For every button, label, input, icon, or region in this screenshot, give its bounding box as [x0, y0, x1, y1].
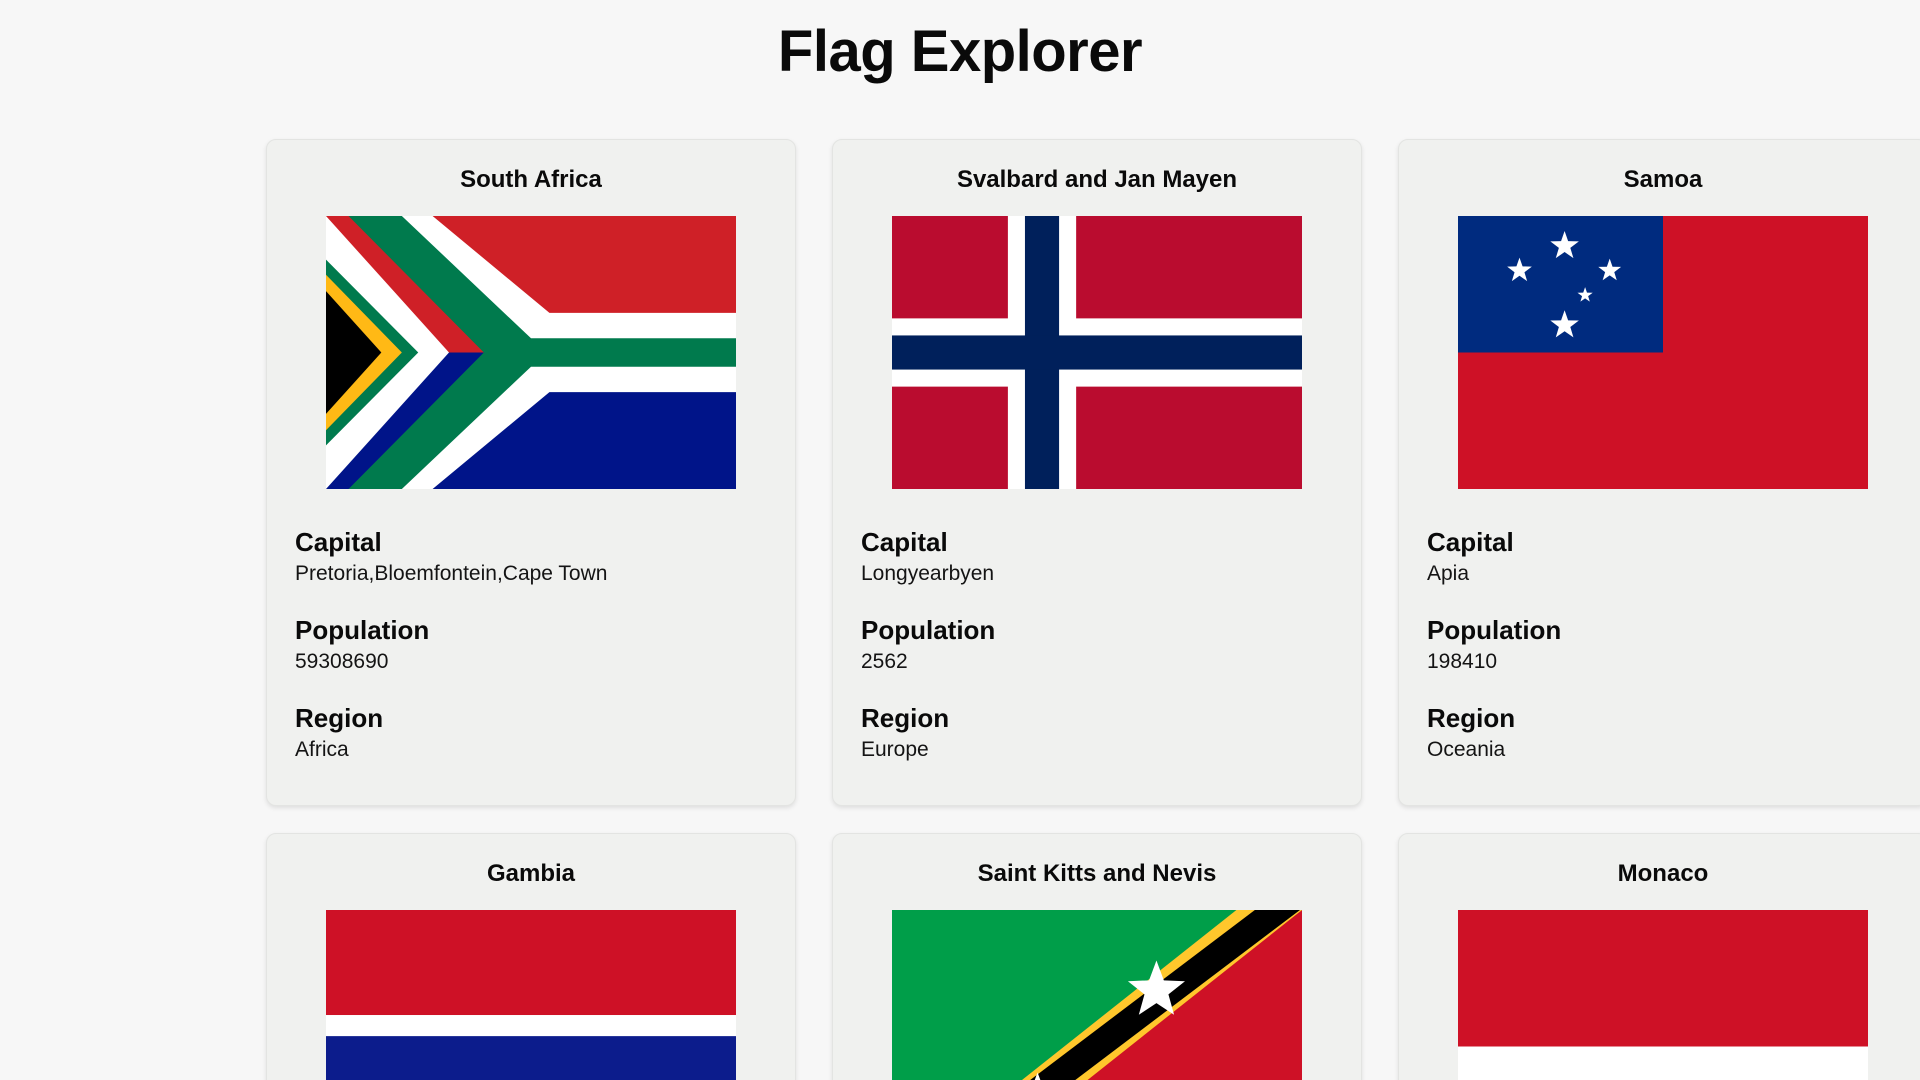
country-fields: CapitalLongyearbyenPopulation2562RegionE…: [861, 527, 1333, 765]
country-name: Saint Kitts and Nevis: [861, 860, 1333, 888]
flag-wrapper: [1427, 910, 1899, 1080]
flag-card[interactable]: Svalbard and Jan Mayen CapitalLongyearby…: [832, 139, 1362, 806]
field-region: RegionOceania: [1427, 703, 1899, 765]
region-label: Region: [1427, 703, 1899, 734]
population-value: 2562: [861, 648, 1333, 676]
flag-wrapper: [295, 910, 767, 1080]
flag-saint-kitts-and-nevis-icon: [892, 910, 1302, 1080]
region-value: Europe: [861, 736, 1333, 764]
field-population: Population198410: [1427, 615, 1899, 677]
flag-monaco-icon: [1458, 910, 1868, 1080]
page-title: Flag Explorer: [0, 0, 1920, 89]
field-capital: CapitalApia: [1427, 527, 1899, 589]
field-capital: CapitalPretoria,Bloemfontein,Cape Town: [295, 527, 767, 589]
capital-value: Pretoria,Bloemfontein,Cape Town: [295, 560, 767, 588]
flag-wrapper: [861, 216, 1333, 489]
country-fields: CapitalPretoria,Bloemfontein,Cape TownPo…: [295, 527, 767, 765]
flag-samoa-icon: [1458, 216, 1868, 489]
flag-south-africa-icon: [326, 216, 736, 489]
capital-label: Capital: [1427, 527, 1899, 558]
flag-card-grid: South Africa CapitalPretoria,Bloemfontei…: [130, 139, 1790, 1080]
capital-value: Longyearbyen: [861, 560, 1333, 588]
country-fields: CapitalApiaPopulation198410RegionOceania: [1427, 527, 1899, 765]
population-label: Population: [295, 615, 767, 646]
flag-card[interactable]: Saint Kitts and Nevis CapitalPopulationR…: [832, 833, 1362, 1080]
population-label: Population: [861, 615, 1333, 646]
flag-wrapper: [1427, 216, 1899, 489]
field-region: RegionAfrica: [295, 703, 767, 765]
field-capital: CapitalLongyearbyen: [861, 527, 1333, 589]
field-population: Population2562: [861, 615, 1333, 677]
field-region: RegionEurope: [861, 703, 1333, 765]
region-value: Oceania: [1427, 736, 1899, 764]
flag-card[interactable]: Monaco CapitalPopulationRegion: [1398, 833, 1920, 1080]
population-value: 198410: [1427, 648, 1899, 676]
country-name: Svalbard and Jan Mayen: [861, 166, 1333, 194]
flag-svalbard-and-jan-mayen-icon: [892, 216, 1302, 489]
country-name: South Africa: [295, 166, 767, 194]
flag-explorer-page: Flag Explorer South Africa CapitalPretor…: [0, 0, 1920, 1080]
flag-gambia-icon: [326, 910, 736, 1080]
capital-value: Apia: [1427, 560, 1899, 588]
capital-label: Capital: [295, 527, 767, 558]
population-label: Population: [1427, 615, 1899, 646]
country-name: Gambia: [295, 860, 767, 888]
country-name: Samoa: [1427, 166, 1899, 194]
flag-card[interactable]: Samoa CapitalApiaPopulation198410RegionO…: [1398, 139, 1920, 806]
flag-card[interactable]: Gambia CapitalPopulationRegion: [266, 833, 796, 1080]
capital-label: Capital: [861, 527, 1333, 558]
region-label: Region: [861, 703, 1333, 734]
flag-wrapper: [295, 216, 767, 489]
country-name: Monaco: [1427, 860, 1899, 888]
population-value: 59308690: [295, 648, 767, 676]
region-label: Region: [295, 703, 767, 734]
region-value: Africa: [295, 736, 767, 764]
flag-wrapper: [861, 910, 1333, 1080]
field-population: Population59308690: [295, 615, 767, 677]
flag-card[interactable]: South Africa CapitalPretoria,Bloemfontei…: [266, 139, 796, 806]
